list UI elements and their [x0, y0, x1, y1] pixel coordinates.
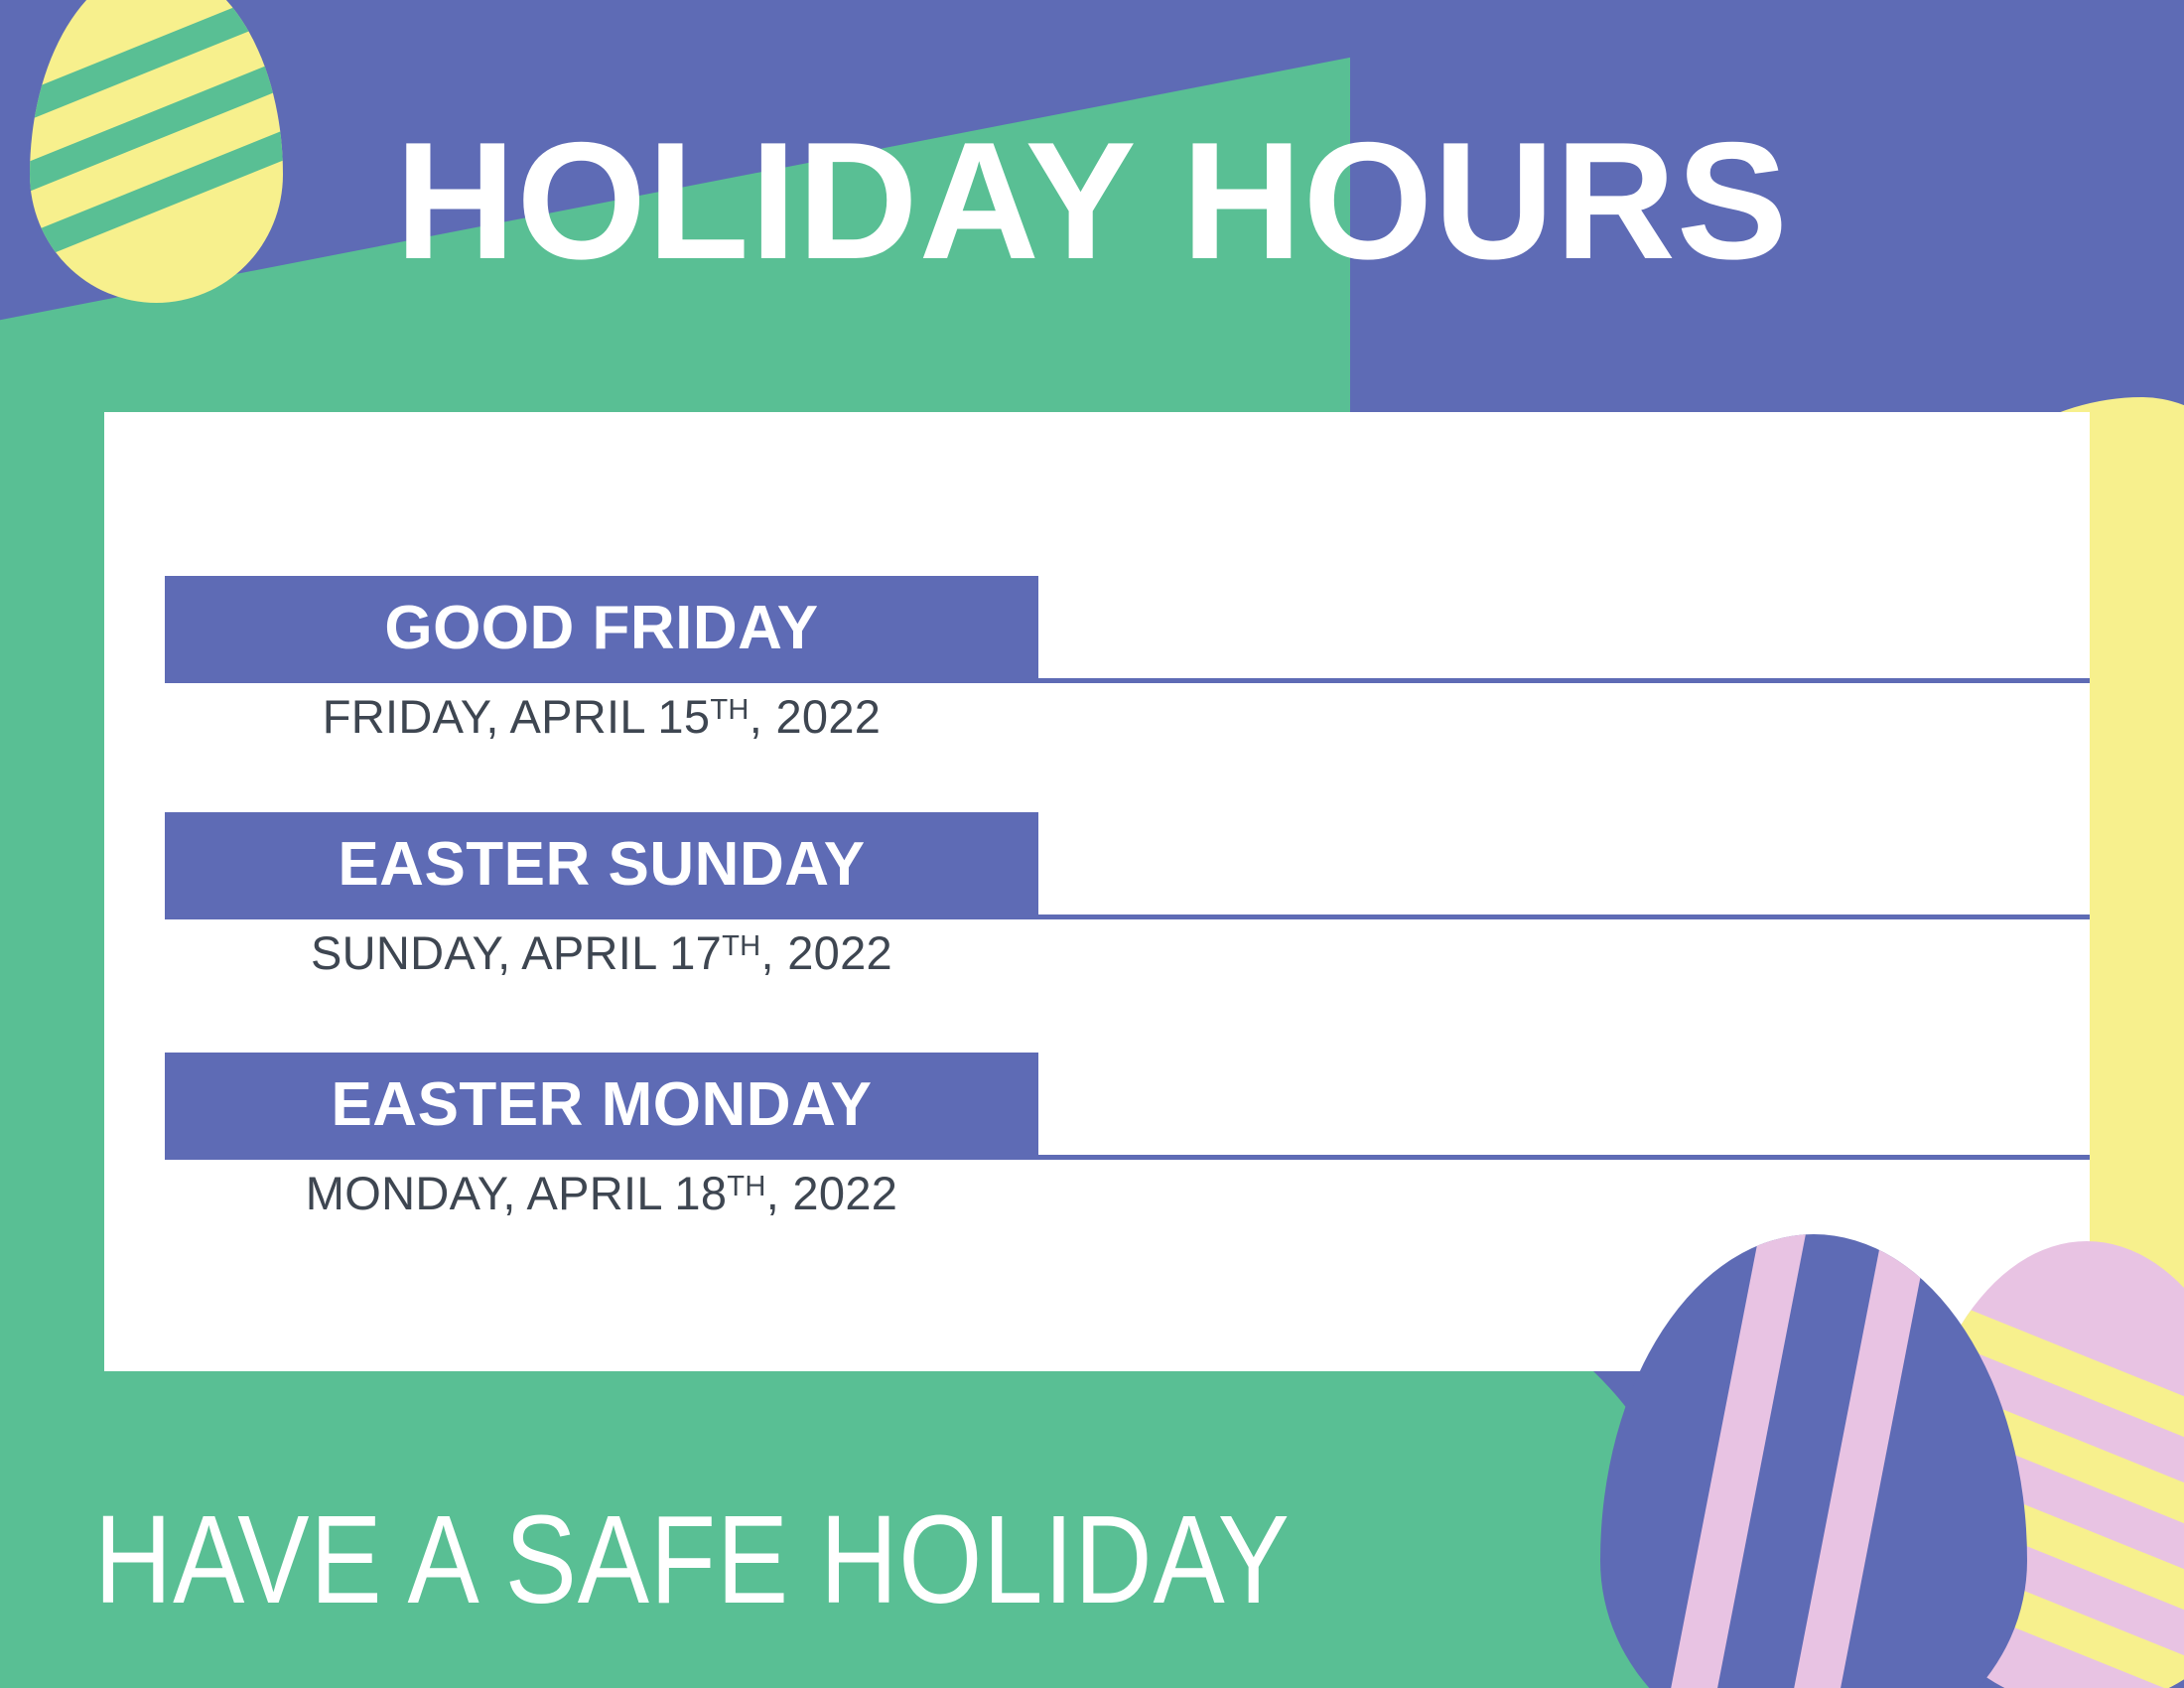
holiday-entry-row: GOOD FRIDAY	[165, 576, 2090, 683]
footer-message: HAVE A SAFE HOLIDAY	[94, 1497, 1291, 1622]
holiday-name-label: EASTER SUNDAY	[165, 812, 1038, 919]
holiday-date-prefix: MONDAY, APRIL 18	[306, 1167, 728, 1219]
hours-write-in-line[interactable]	[1038, 914, 2090, 919]
holiday-date-prefix: SUNDAY, APRIL 17	[311, 926, 722, 979]
holiday-date: SUNDAY, APRIL 17TH, 2022	[165, 925, 1038, 980]
holiday-name-label: GOOD FRIDAY	[165, 576, 1038, 683]
hours-write-in-line[interactable]	[1038, 1155, 2090, 1160]
hours-write-in-line[interactable]	[1038, 678, 2090, 683]
holiday-entry: GOOD FRIDAY FRIDAY, APRIL 15TH, 2022	[165, 576, 2090, 744]
holiday-date-ordinal: TH	[727, 1171, 765, 1202]
holiday-name-label: EASTER MONDAY	[165, 1053, 1038, 1160]
holiday-hours-poster: HOLIDAY HOURS GOOD FRIDAY FRIDAY, APRIL …	[0, 0, 2184, 1688]
holiday-entry: EASTER MONDAY MONDAY, APRIL 18TH, 2022	[165, 1053, 2090, 1220]
holiday-entry-row: EASTER MONDAY	[165, 1053, 2090, 1160]
holiday-entry: EASTER SUNDAY SUNDAY, APRIL 17TH, 2022	[165, 812, 2090, 980]
page-title: HOLIDAY HOURS	[0, 117, 2184, 284]
holiday-date-ordinal: TH	[722, 930, 760, 962]
holiday-date-ordinal: TH	[710, 694, 749, 726]
holiday-date-prefix: FRIDAY, APRIL 15	[323, 690, 711, 743]
holiday-date-suffix: , 2022	[750, 690, 881, 743]
holiday-date-suffix: , 2022	[761, 926, 892, 979]
holiday-date-suffix: , 2022	[766, 1167, 897, 1219]
holiday-date: MONDAY, APRIL 18TH, 2022	[165, 1166, 1038, 1220]
holiday-entry-row: EASTER SUNDAY	[165, 812, 2090, 919]
holiday-date: FRIDAY, APRIL 15TH, 2022	[165, 689, 1038, 744]
holiday-list-card: GOOD FRIDAY FRIDAY, APRIL 15TH, 2022 EAS…	[104, 412, 2090, 1371]
